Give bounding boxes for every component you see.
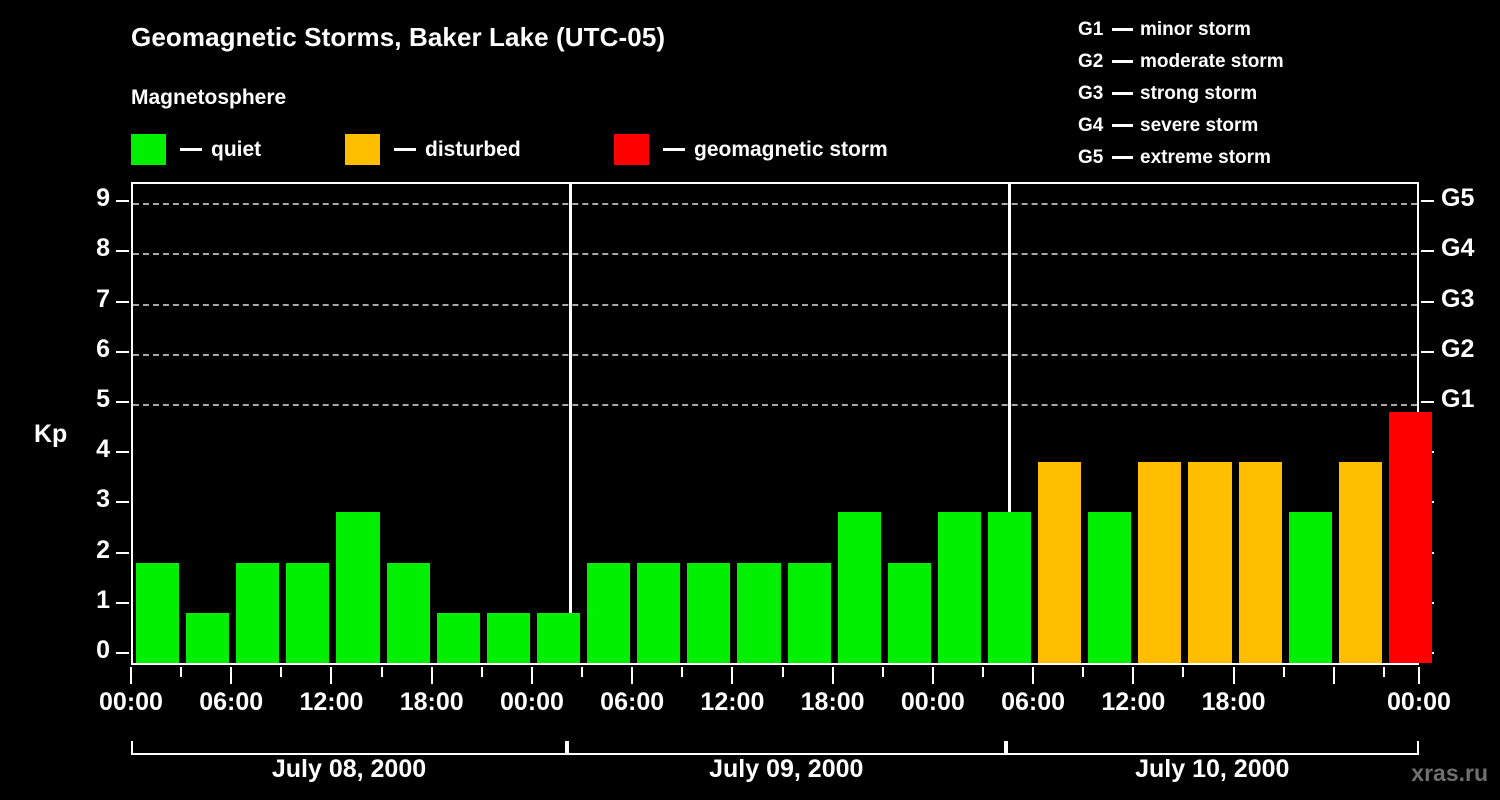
x-tick-label-4: 00:00 xyxy=(500,688,564,717)
g-axis-label-g2: G2 xyxy=(1441,335,1474,364)
g-axis-label-g4: G4 xyxy=(1441,234,1474,263)
y-tick-label-9: 9 xyxy=(0,184,110,213)
x-tick-3 xyxy=(280,667,282,677)
y-tick-label-2: 2 xyxy=(0,536,110,565)
g-scale-dash-icon xyxy=(1112,124,1133,127)
y-tick-label-0: 0 xyxy=(0,636,110,665)
y-tick-label-5: 5 xyxy=(0,385,110,414)
x-tick-label-8: 00:00 xyxy=(901,688,965,717)
y-tick-2 xyxy=(116,552,129,554)
x-tick-21 xyxy=(1182,667,1184,677)
bar[interactable] xyxy=(1138,462,1181,663)
legend-item-2: geomagnetic storm xyxy=(614,133,888,165)
g-scale-dash-icon xyxy=(1112,60,1133,63)
g-scale-desc: minor storm xyxy=(1140,19,1251,40)
legend-swatch-icon xyxy=(345,134,380,165)
day-bracket-label-2: July 09, 2000 xyxy=(709,755,863,784)
y-tick-label-3: 3 xyxy=(0,485,110,514)
g-scale-code: G4 xyxy=(1078,110,1110,142)
x-tick-label-1: 06:00 xyxy=(199,688,263,717)
x-tick-7 xyxy=(481,667,483,677)
y-tick-0 xyxy=(116,652,129,654)
x-tick-label-2: 12:00 xyxy=(299,688,363,717)
bar[interactable] xyxy=(1389,412,1432,663)
y-tick-6 xyxy=(116,351,129,353)
x-tick-25 xyxy=(1383,667,1385,677)
g-scale-code: G3 xyxy=(1078,78,1110,110)
day-bracket-label-3: July 10, 2000 xyxy=(1135,755,1289,784)
y-right-tick-9 xyxy=(1421,200,1434,202)
y-tick-label-1: 1 xyxy=(0,586,110,615)
legend-dash-icon xyxy=(180,148,202,151)
x-tick-18 xyxy=(1032,667,1034,684)
y-tick-label-8: 8 xyxy=(0,234,110,263)
bar[interactable] xyxy=(1088,512,1131,663)
g-axis-label-g5: G5 xyxy=(1441,184,1474,213)
bar[interactable] xyxy=(336,512,379,663)
legend-swatch-icon xyxy=(614,134,649,165)
y-right-tick-8 xyxy=(1421,250,1434,252)
bar[interactable] xyxy=(687,563,730,663)
bar[interactable] xyxy=(888,563,931,663)
y-right-tick-7 xyxy=(1421,301,1434,303)
g-axis-label-g3: G3 xyxy=(1441,285,1474,314)
x-tick-8 xyxy=(531,667,533,684)
bar[interactable] xyxy=(988,512,1031,663)
x-tick-17 xyxy=(982,667,984,677)
bar[interactable] xyxy=(938,512,981,663)
y-tick-label-6: 6 xyxy=(0,335,110,364)
bar[interactable] xyxy=(437,613,480,663)
y-tick-9 xyxy=(116,200,129,202)
day-bracket-1 xyxy=(131,741,567,755)
legend-swatch-icon xyxy=(131,134,166,165)
chart-subtitle: Magnetosphere xyxy=(131,86,286,110)
bar[interactable] xyxy=(1239,462,1282,663)
g-scale-legend: G1minor stormG2moderate stormG3strong st… xyxy=(1078,14,1284,174)
g-scale-code: G2 xyxy=(1078,46,1110,78)
x-tick-13 xyxy=(782,667,784,677)
legend-label: geomagnetic storm xyxy=(694,139,888,160)
x-tick-15 xyxy=(882,667,884,677)
y-tick-3 xyxy=(116,501,129,503)
x-tick-1 xyxy=(180,667,182,677)
g-axis-label-g1: G1 xyxy=(1441,385,1474,414)
day-bracket-label-1: July 08, 2000 xyxy=(272,755,426,784)
bar[interactable] xyxy=(1188,462,1231,663)
legend-label: quiet xyxy=(211,139,261,160)
chart-title: Geomagnetic Storms, Baker Lake (UTC-05) xyxy=(131,22,665,53)
x-tick-14 xyxy=(832,667,834,684)
y-tick-4 xyxy=(116,451,129,453)
legend-item-0: quiet xyxy=(131,133,261,165)
g-scale-desc: severe storm xyxy=(1140,115,1258,136)
g-scale-row-g5: G5extreme storm xyxy=(1078,142,1284,174)
x-tick-4 xyxy=(330,667,332,684)
x-tick-label-10: 12:00 xyxy=(1101,688,1165,717)
bar[interactable] xyxy=(537,613,580,663)
watermark: xras.ru xyxy=(1411,760,1488,787)
x-tick-10 xyxy=(631,667,633,684)
x-tick-22 xyxy=(1233,667,1235,684)
x-tick-0 xyxy=(130,667,132,684)
x-tick-end xyxy=(1418,667,1420,684)
y-tick-5 xyxy=(116,401,129,403)
x-tick-label-11: 18:00 xyxy=(1202,688,1266,717)
legend-dash-icon xyxy=(663,148,685,151)
y-axis-title: Kp xyxy=(34,420,67,449)
x-tick-11 xyxy=(681,667,683,677)
x-tick-label-3: 18:00 xyxy=(400,688,464,717)
bar[interactable] xyxy=(838,512,881,663)
chart-root: Geomagnetic Storms, Baker Lake (UTC-05) … xyxy=(0,0,1500,800)
g-scale-row-g3: G3strong storm xyxy=(1078,78,1284,110)
g-scale-row-g4: G4severe storm xyxy=(1078,110,1284,142)
y-right-tick-6 xyxy=(1421,351,1434,353)
y-tick-1 xyxy=(116,602,129,604)
legend-item-1: disturbed xyxy=(345,133,521,165)
x-tick-24 xyxy=(1333,667,1335,684)
bar[interactable] xyxy=(1339,462,1382,663)
x-tick-label-0: 00:00 xyxy=(99,688,163,717)
bar[interactable] xyxy=(387,563,430,663)
x-tick-9 xyxy=(581,667,583,677)
g-scale-desc: extreme storm xyxy=(1140,147,1271,168)
g-scale-desc: moderate storm xyxy=(1140,51,1284,72)
x-tick-label-7: 18:00 xyxy=(801,688,865,717)
g-scale-code: G5 xyxy=(1078,142,1110,174)
bar[interactable] xyxy=(236,563,279,663)
bar[interactable] xyxy=(587,563,630,663)
g-scale-dash-icon xyxy=(1112,28,1133,31)
g-scale-code: G1 xyxy=(1078,14,1110,46)
g-scale-dash-icon xyxy=(1112,92,1133,95)
bar[interactable] xyxy=(487,613,530,663)
day-bracket-2 xyxy=(567,741,1006,755)
g-scale-row-g1: G1minor storm xyxy=(1078,14,1284,46)
bar[interactable] xyxy=(136,563,179,663)
bar-series xyxy=(133,184,1417,663)
x-tick-label-9: 06:00 xyxy=(1001,688,1065,717)
bar[interactable] xyxy=(1038,462,1081,663)
x-tick-20 xyxy=(1132,667,1134,684)
legend-dash-icon xyxy=(394,148,416,151)
g-scale-desc: strong storm xyxy=(1140,83,1257,104)
x-tick-12 xyxy=(731,667,733,684)
y-tick-7 xyxy=(116,301,129,303)
day-bracket-3 xyxy=(1006,741,1419,755)
bar[interactable] xyxy=(286,563,329,663)
x-tick-6 xyxy=(431,667,433,684)
y-tick-8 xyxy=(116,250,129,252)
bar[interactable] xyxy=(788,563,831,663)
x-tick-label-12: 00:00 xyxy=(1387,688,1451,717)
bar[interactable] xyxy=(737,563,780,663)
y-tick-label-7: 7 xyxy=(0,285,110,314)
x-tick-label-6: 12:00 xyxy=(700,688,764,717)
y-right-tick-5 xyxy=(1421,401,1434,403)
x-tick-2 xyxy=(230,667,232,684)
x-tick-19 xyxy=(1082,667,1084,677)
bar[interactable] xyxy=(186,613,229,663)
g-scale-row-g2: G2moderate storm xyxy=(1078,46,1284,78)
x-tick-label-5: 06:00 xyxy=(600,688,664,717)
x-tick-16 xyxy=(932,667,934,684)
bar[interactable] xyxy=(1289,512,1332,663)
legend-label: disturbed xyxy=(425,139,521,160)
plot-area xyxy=(131,182,1419,665)
bar[interactable] xyxy=(637,563,680,663)
g-scale-dash-icon xyxy=(1112,156,1133,159)
x-tick-5 xyxy=(381,667,383,677)
x-tick-23 xyxy=(1283,667,1285,677)
